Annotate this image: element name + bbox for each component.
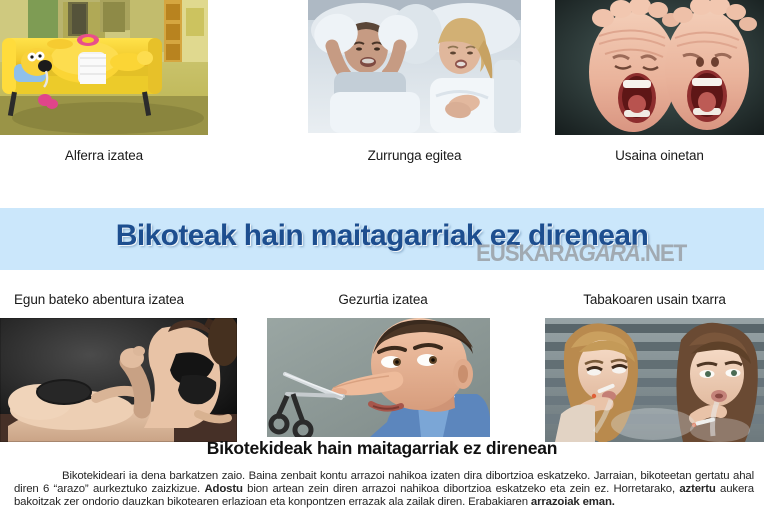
paragraph-bold-run: aztertu [679, 483, 715, 495]
watermark-suffix: .NET [640, 240, 686, 267]
paragraph-bold-run: arrazoiak eman. [531, 496, 615, 508]
watermark-prefix: EUSKARA [476, 240, 579, 267]
caption-gezurtia-izatea: Gezurtia izatea [280, 292, 486, 307]
caption-tabakoaren-usain-txarra: Tabakoaren usain txarra [545, 292, 764, 307]
watermark-italic: GARA [579, 240, 640, 267]
paragraph-bold-run: Adostu [204, 483, 242, 495]
two-women-smoking-photo [545, 318, 764, 442]
long-nose-liar-scissors-photo [267, 318, 490, 437]
euskaragara-watermark: EUSKARAGARA.NET [476, 240, 686, 268]
paragraph-run: bion artean zein diren arrazoi nahikoa d… [243, 483, 680, 495]
caption-egun-bateko-abentura-izatea: Egun bateko abentura izatea [0, 292, 198, 307]
instructions-paragraph: Bikotekideari ia dena barkatzen zaio. Ba… [14, 470, 754, 510]
caption-usaina-oinetan: Usaina oinetan [555, 148, 764, 163]
couple-in-bed-snoring-photo [308, 0, 521, 133]
caption-zurrunga-egitea: Zurrunga egitea [308, 148, 521, 163]
homer-sleeping-on-couch-photo [0, 0, 208, 135]
worksheet-page: Alferra izatea Zurrunga egitea Usaina oi… [0, 0, 764, 532]
couple-intimate-dark-photo [0, 318, 237, 442]
caption-alferra-izatea: Alferra izatea [0, 148, 208, 163]
footer-heading: Bikotekideak hain maitagarriak ez direne… [0, 438, 764, 459]
screaming-feet-soles-photo [555, 0, 764, 135]
